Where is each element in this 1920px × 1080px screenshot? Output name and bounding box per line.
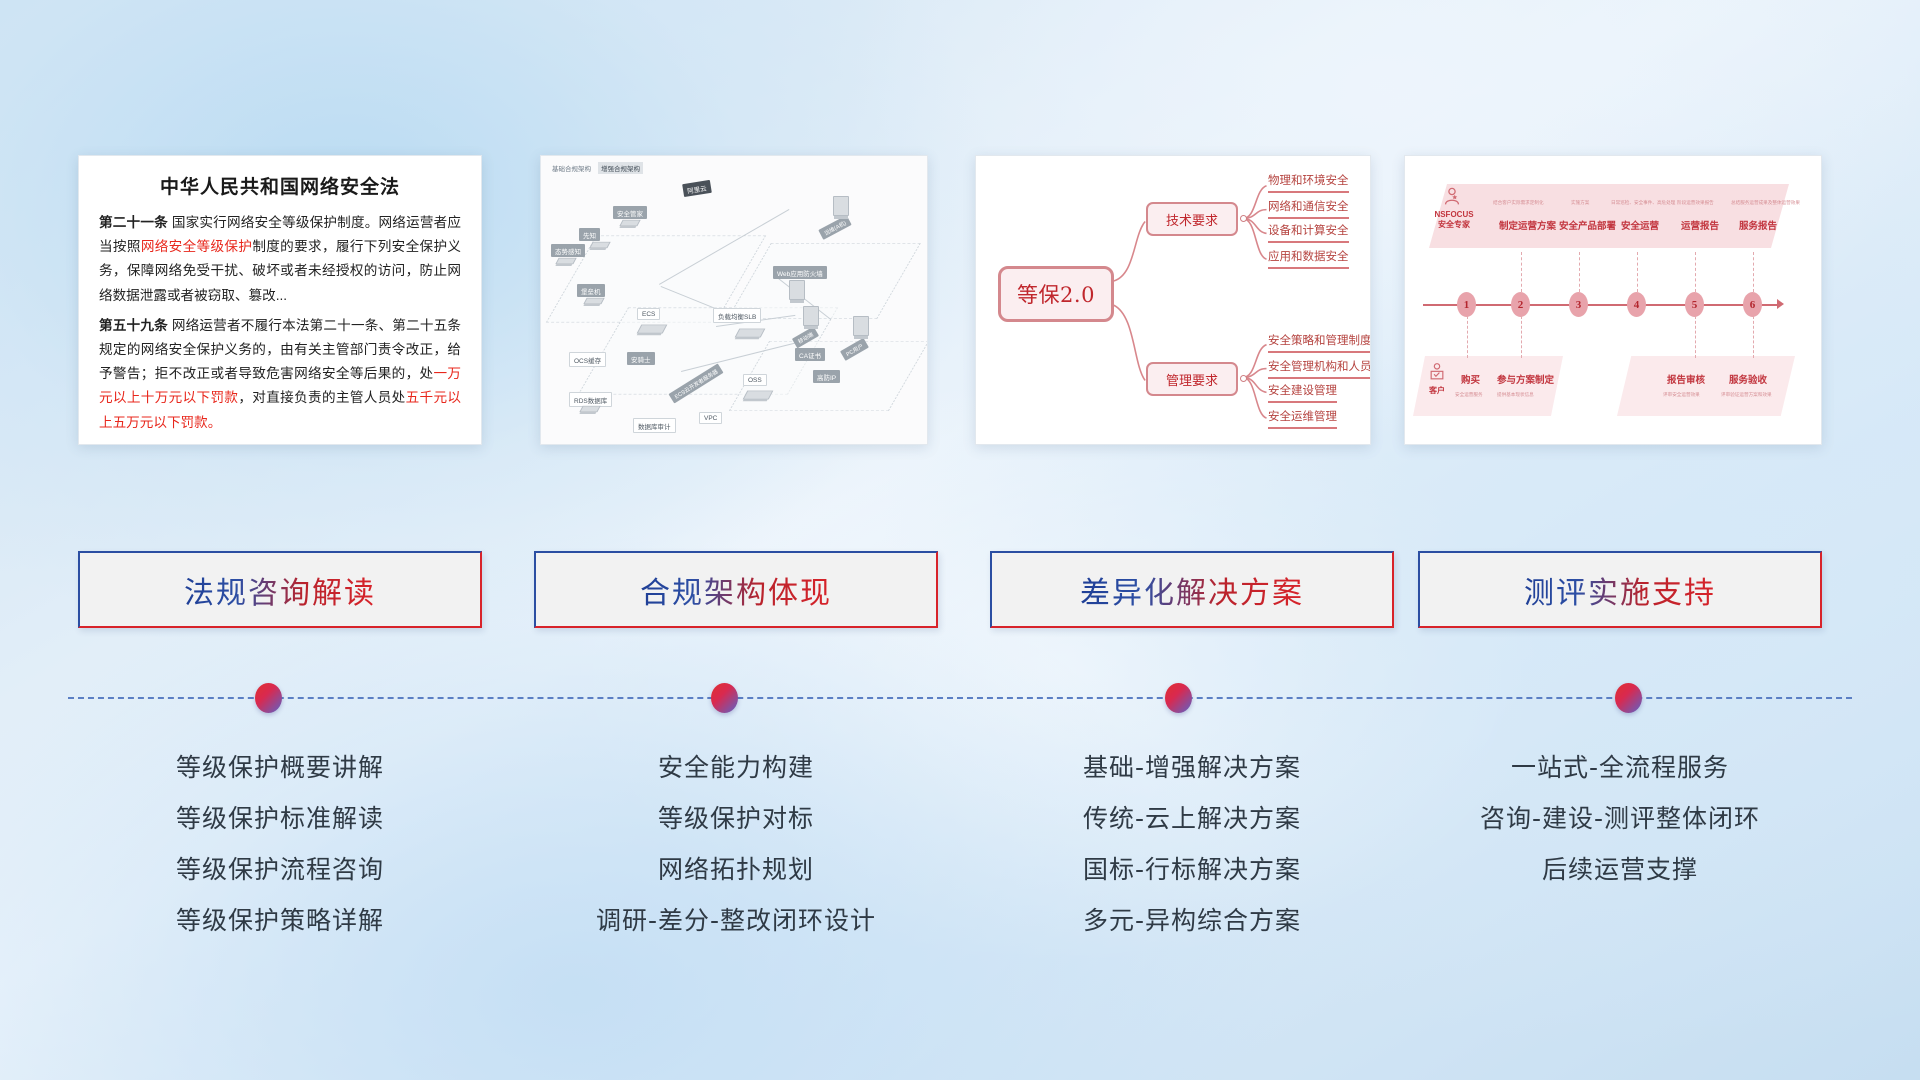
- list-item: 多元-异构综合方案: [990, 895, 1394, 946]
- list-item: 基础-增强解决方案: [990, 742, 1394, 793]
- bullet-column-2: 安全能力构建 等级保护对标 网络拓扑规划 调研-差分-整改闭环设计: [534, 742, 938, 946]
- axis-marker-3[interactable]: [1165, 683, 1192, 713]
- list-item: 国标-行标解决方案: [990, 844, 1394, 895]
- dashed-timeline-axis: [68, 697, 1852, 699]
- axis-marker-1[interactable]: [255, 683, 282, 713]
- title-label-3: 差异化解决方案: [1080, 568, 1304, 612]
- list-item: 调研-差分-整改闭环设计: [534, 895, 938, 946]
- bullet-column-4: 一站式-全流程服务 咨询-建设-测评整体闭环 后续运营支撑: [1418, 742, 1822, 895]
- title-label-4: 测评实施支持: [1524, 568, 1716, 612]
- title-box-regulation-consulting[interactable]: 法规咨询解读: [78, 551, 482, 628]
- list-item: 等级保护概要讲解: [78, 742, 482, 793]
- list-item: 等级保护策略详解: [78, 895, 482, 946]
- list-item: 后续运营支撑: [1418, 844, 1822, 895]
- list-item: 等级保护对标: [534, 793, 938, 844]
- axis-marker-2[interactable]: [711, 683, 738, 713]
- title-label-1: 法规咨询解读: [184, 568, 376, 612]
- bullet-column-3: 基础-增强解决方案 传统-云上解决方案 国标-行标解决方案 多元-异构综合方案: [990, 742, 1394, 946]
- bullet-column-1: 等级保护概要讲解 等级保护标准解读 等级保护流程咨询 等级保护策略详解: [78, 742, 482, 946]
- list-item: 一站式-全流程服务: [1418, 742, 1822, 793]
- title-box-differentiated-solution[interactable]: 差异化解决方案: [990, 551, 1394, 628]
- title-label-2: 合规架构体现: [640, 568, 832, 612]
- list-item: 咨询-建设-测评整体闭环: [1418, 793, 1822, 844]
- list-item: 等级保护标准解读: [78, 793, 482, 844]
- list-item: 传统-云上解决方案: [990, 793, 1394, 844]
- axis-marker-4[interactable]: [1615, 683, 1642, 713]
- list-item: 网络拓扑规划: [534, 844, 938, 895]
- list-item: 安全能力构建: [534, 742, 938, 793]
- list-item: 等级保护流程咨询: [78, 844, 482, 895]
- title-box-compliance-architecture[interactable]: 合规架构体现: [534, 551, 938, 628]
- title-box-assessment-support[interactable]: 测评实施支持: [1418, 551, 1822, 628]
- title-boxes-row: 法规咨询解读 合规架构体现 差异化解决方案 测评实施支持 等级保护概要讲解 等级…: [0, 0, 1920, 1080]
